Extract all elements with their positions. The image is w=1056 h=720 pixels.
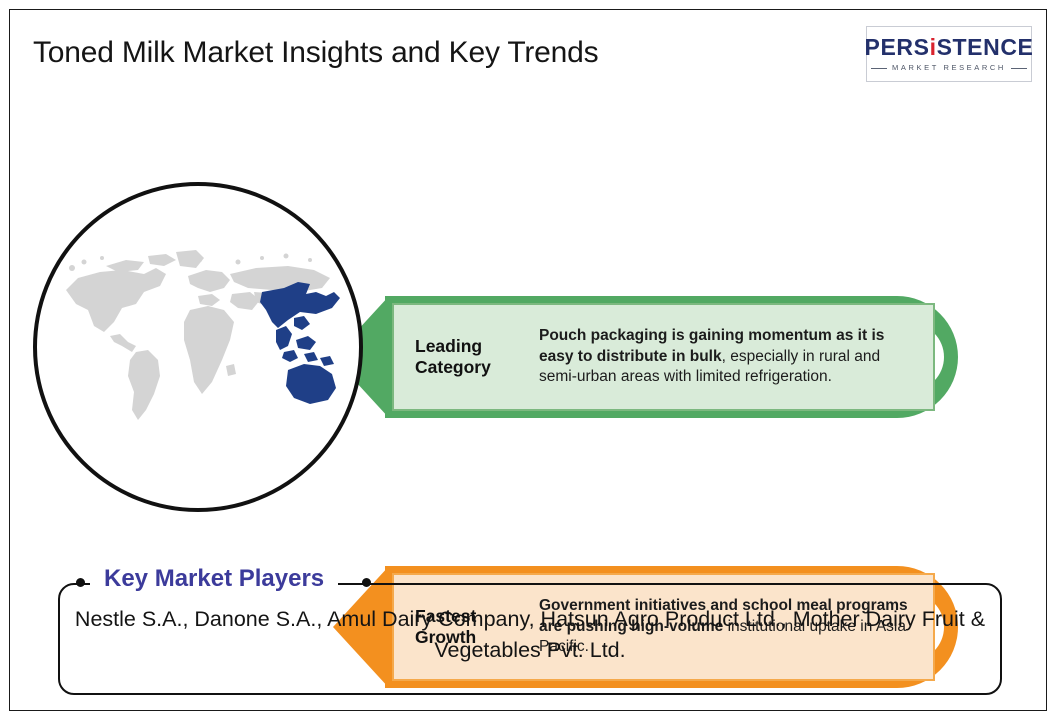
logo-word-part2: STENCE <box>937 34 1034 60</box>
logo-word-accent: i <box>930 34 937 60</box>
card-panel: LeadingCategory Pouch packaging is gaini… <box>392 303 935 411</box>
key-market-players-list: Nestle S.A., Danone S.A., Amul Dairy Com… <box>70 604 990 665</box>
logo-tagline: MARKET RESEARCH <box>892 64 1006 72</box>
logo-tagline-wrap: MARKET RESEARCH <box>871 64 1027 72</box>
brand-logo: PERSiSTENCE MARKET RESEARCH <box>866 26 1032 82</box>
logo-word-part1: PERS <box>865 34 930 60</box>
card-label: LeadingCategory <box>394 336 539 379</box>
asia-pacific-highlight <box>260 282 340 404</box>
infographic-root: Toned Milk Market Insights and Key Trend… <box>0 0 1056 720</box>
world-map-globe <box>33 182 363 512</box>
logo-rule-right-icon <box>1011 68 1027 69</box>
players-title-dot-left-icon <box>76 578 85 587</box>
key-market-players-title: Key Market Players <box>90 567 338 591</box>
world-map-icon <box>48 248 356 448</box>
card-label-line2: Category <box>415 357 491 377</box>
card-label-line1: Leading <box>415 336 482 356</box>
players-title-dot-right-icon <box>362 578 371 587</box>
page-title: Toned Milk Market Insights and Key Trend… <box>33 36 598 70</box>
logo-wordmark: PERSiSTENCE <box>865 36 1034 59</box>
logo-rule-left-icon <box>871 68 887 69</box>
card-text: Pouch packaging is gaining momentum as i… <box>539 326 933 387</box>
